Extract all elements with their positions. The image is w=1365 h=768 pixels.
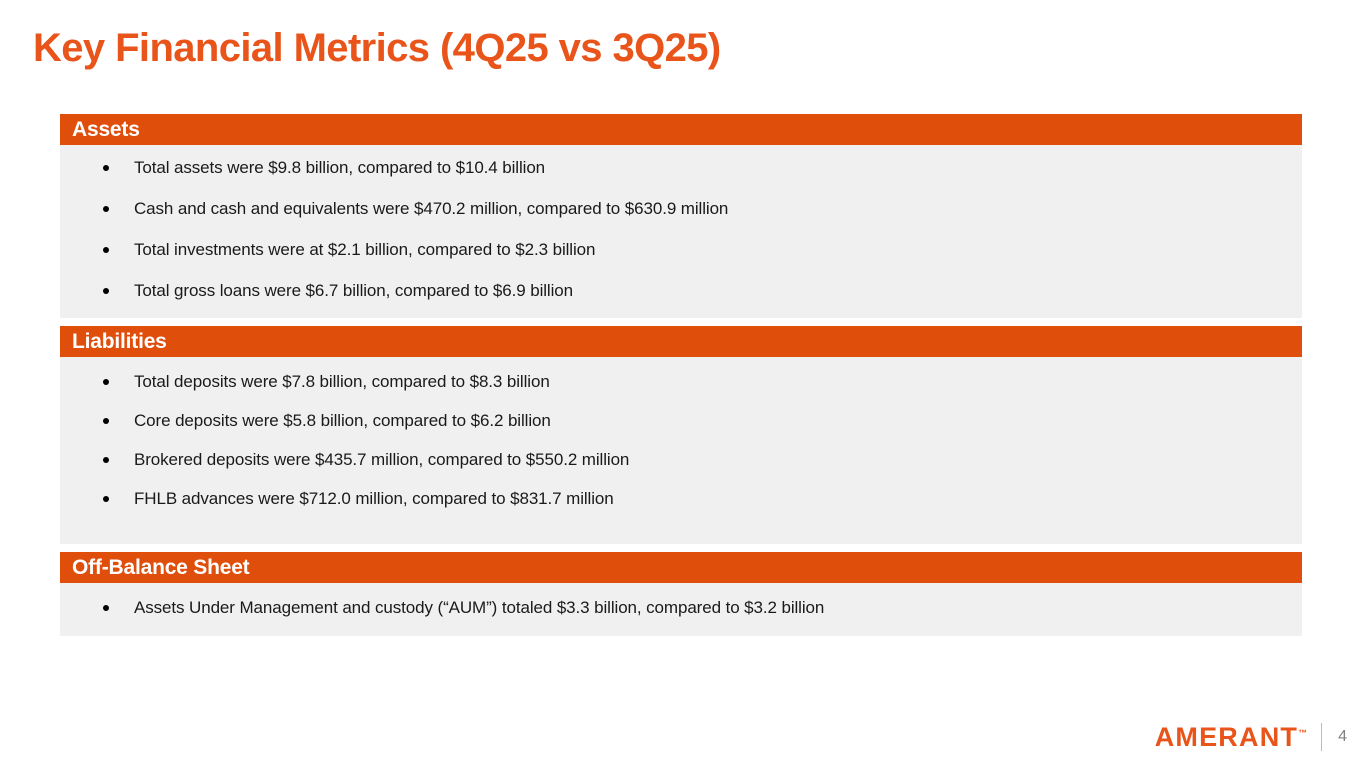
list-item-text: Total deposits were $7.8 billion, compar… [134,372,550,391]
section-body-off-balance-sheet: Assets Under Management and custody (“AU… [60,583,1302,636]
list-item-text: Core deposits were $5.8 billion, compare… [134,411,551,430]
list-item-text: Total investments were at $2.1 billion, … [134,240,595,259]
bullet-dot-icon [103,247,109,253]
list-item: Total gross loans were $6.7 billion, com… [60,280,1302,302]
bullet-list-liabilities: Total deposits were $7.8 billion, compar… [60,371,1302,510]
bullet-dot-icon [103,605,109,611]
list-item: FHLB advances were $712.0 million, compa… [60,488,1302,510]
list-item: Total deposits were $7.8 billion, compar… [60,371,1302,393]
bullet-dot-icon [103,496,109,502]
list-item: Brokered deposits were $435.7 million, c… [60,449,1302,471]
list-item-text: Assets Under Management and custody (“AU… [134,598,824,617]
list-item: Assets Under Management and custody (“AU… [60,597,1302,619]
section-assets: Assets Total assets were $9.8 billion, c… [60,114,1302,318]
bullet-dot-icon [103,165,109,171]
section-header-liabilities: Liabilities [60,326,1302,357]
list-item-text: Total assets were $9.8 billion, compared… [134,158,545,177]
section-header-off-balance-sheet: Off-Balance Sheet [60,552,1302,583]
bullet-list-off-balance-sheet: Assets Under Management and custody (“AU… [60,597,1302,619]
amerant-logo: AMERANT™ [1155,724,1307,751]
list-item-text: Cash and cash and equivalents were $470.… [134,199,728,218]
page-title: Key Financial Metrics (4Q25 vs 3Q25) [33,28,721,68]
bullet-dot-icon [103,288,109,294]
section-header-assets: Assets [60,114,1302,145]
list-item-text: Total gross loans were $6.7 billion, com… [134,281,573,300]
bullet-list-assets: Total assets were $9.8 billion, compared… [60,157,1302,302]
list-item: Core deposits were $5.8 billion, compare… [60,410,1302,432]
section-off-balance-sheet: Off-Balance Sheet Assets Under Managemen… [60,552,1302,636]
bullet-dot-icon [103,418,109,424]
list-item: Cash and cash and equivalents were $470.… [60,198,1302,220]
section-body-liabilities: Total deposits were $7.8 billion, compar… [60,357,1302,544]
brand-name: AMERANT [1155,722,1298,752]
list-item-text: Brokered deposits were $435.7 million, c… [134,450,629,469]
bullet-dot-icon [103,206,109,212]
footer-divider [1321,723,1322,751]
sections-container: Assets Total assets were $9.8 billion, c… [60,114,1302,636]
footer: AMERANT™ 4 [1155,720,1347,754]
page-number: 4 [1338,729,1347,745]
bullet-dot-icon [103,457,109,463]
bullet-dot-icon [103,379,109,385]
trademark-icon: ™ [1298,728,1307,738]
list-item: Total assets were $9.8 billion, compared… [60,157,1302,179]
section-body-assets: Total assets were $9.8 billion, compared… [60,145,1302,318]
list-item-text: FHLB advances were $712.0 million, compa… [134,489,614,508]
section-liabilities: Liabilities Total deposits were $7.8 bil… [60,326,1302,544]
list-item: Total investments were at $2.1 billion, … [60,239,1302,261]
